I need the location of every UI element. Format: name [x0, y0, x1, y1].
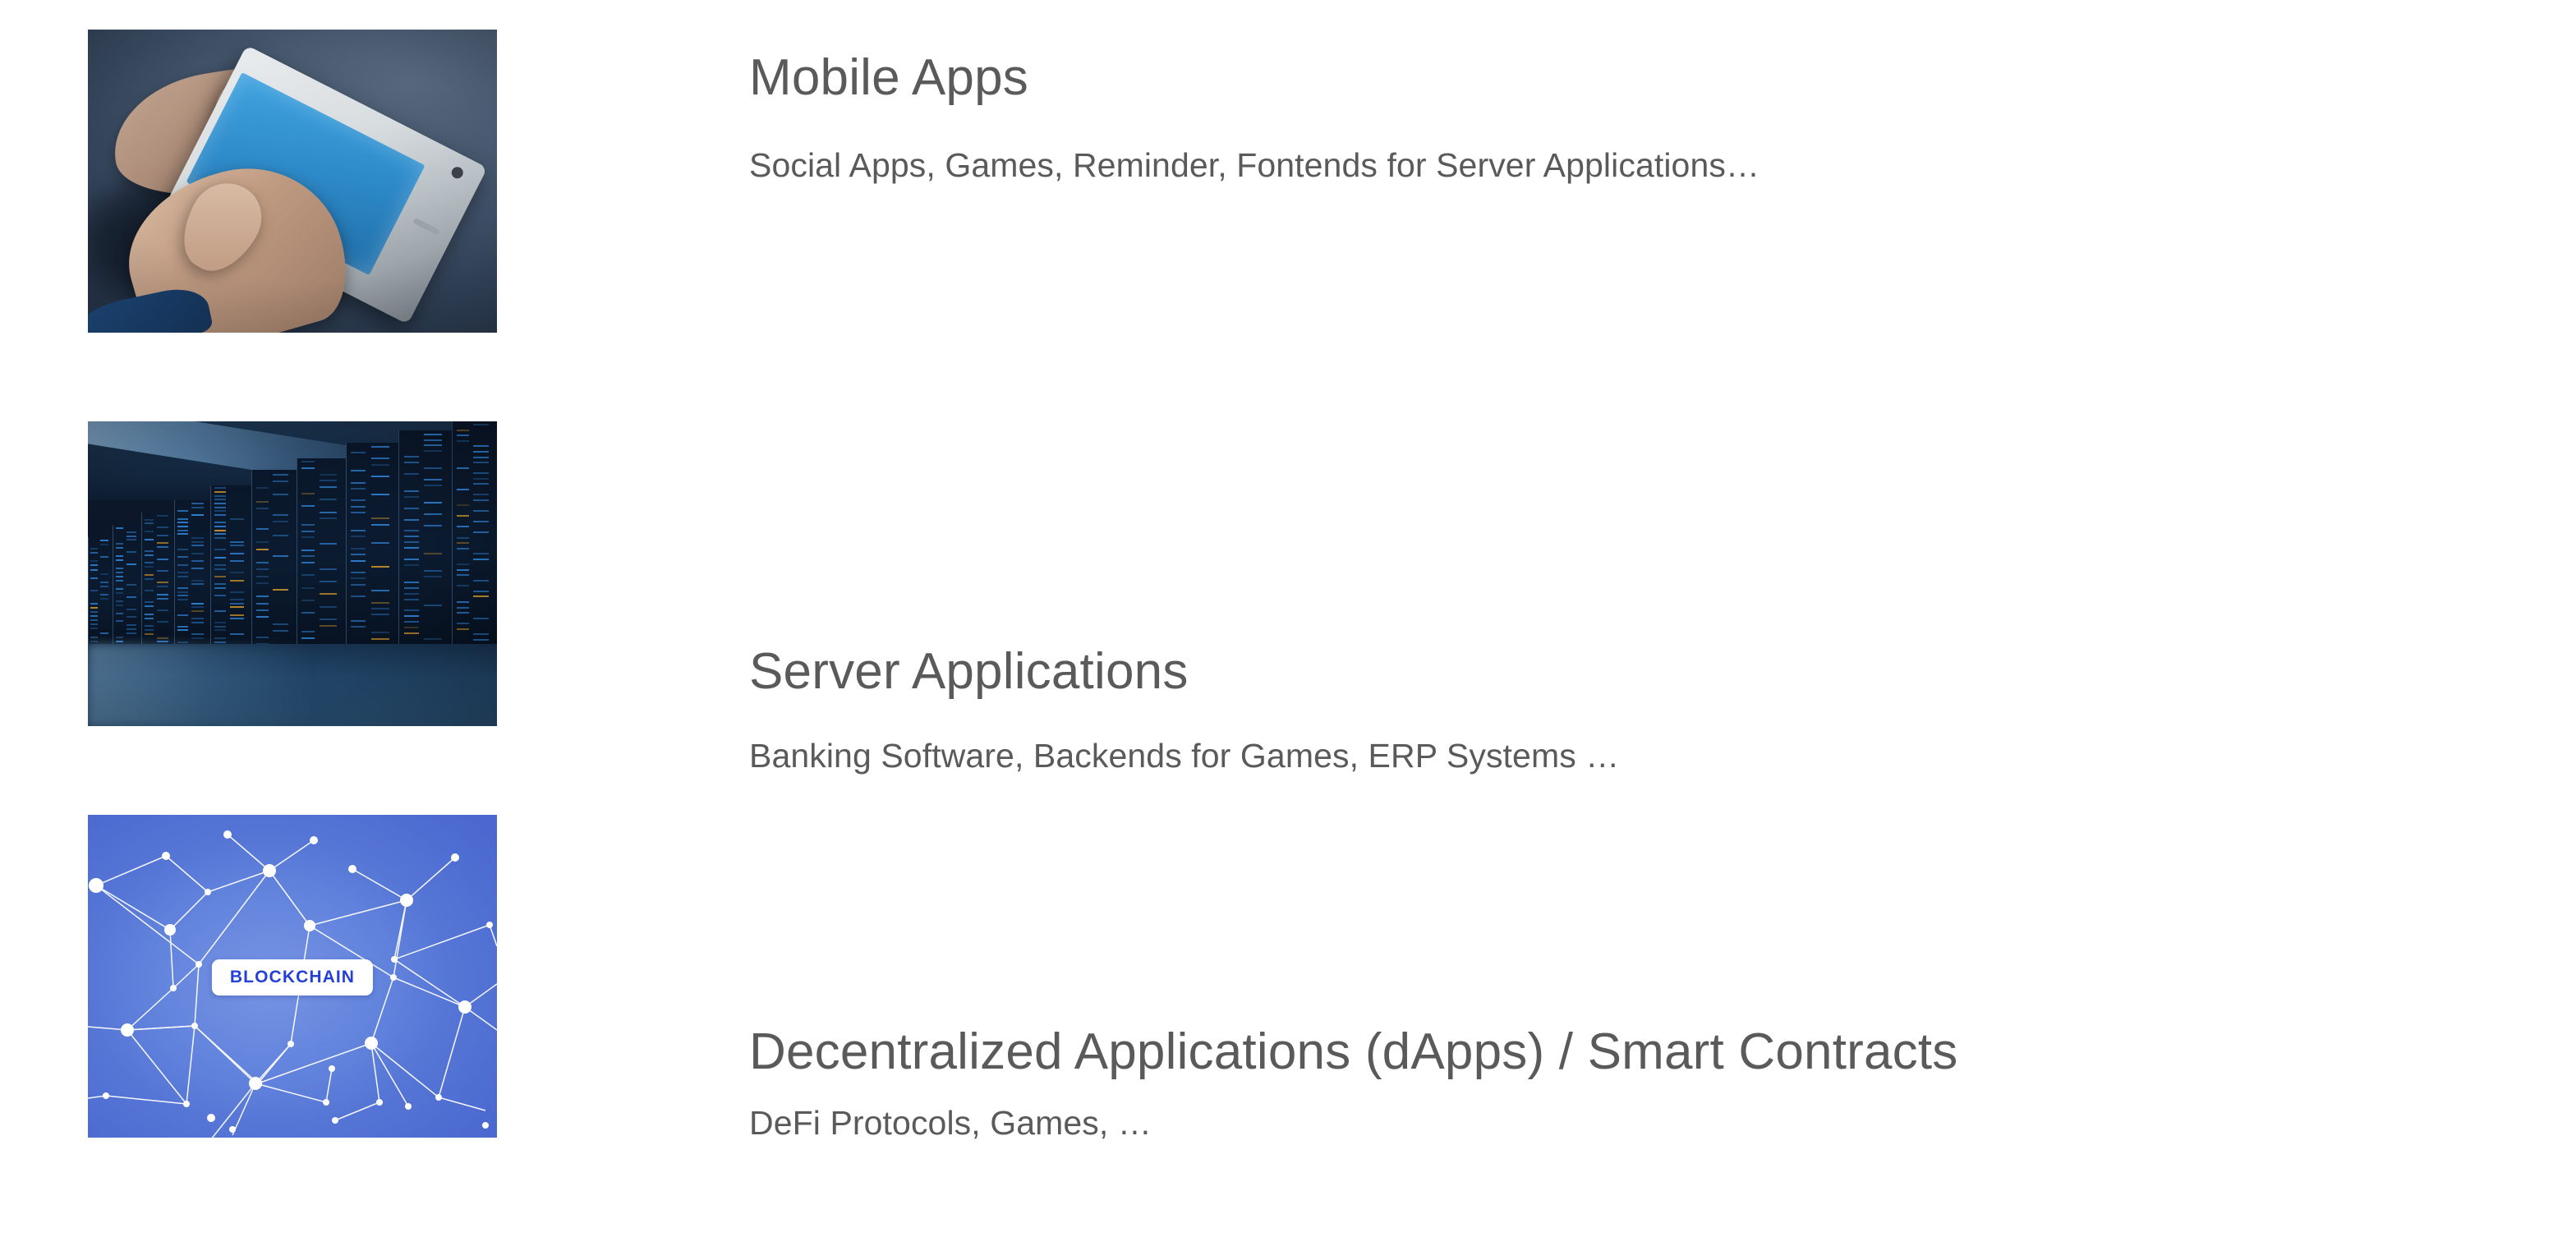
card-mobile-apps: Mobile Apps Social Apps, Games, Reminder… — [0, 0, 2576, 386]
blockchain-label-text: BLOCKCHAIN — [230, 968, 355, 986]
blockchain-label-badge: BLOCKCHAIN — [212, 959, 373, 996]
card-title: Mobile Apps — [749, 49, 2515, 106]
card-description: DeFi Protocols, Games, … — [749, 1101, 2515, 1145]
phone-photo-illustration — [88, 30, 497, 333]
card-thumbnail-decentralized-applications: BLOCKCHAIN — [88, 815, 497, 1138]
card-server-applications: Server Applications Banking Software, Ba… — [0, 392, 2576, 778]
datacenter-photo-illustration — [88, 421, 497, 726]
card-description: Banking Software, Backends for Games, ER… — [749, 734, 2515, 778]
card-thumbnail-server-applications — [88, 421, 497, 726]
card-title: Server Applications — [749, 643, 2515, 700]
blockchain-network-illustration: BLOCKCHAIN — [88, 815, 497, 1138]
card-decentralized-applications: BLOCKCHAIN Decentralized Applications (d… — [0, 785, 2576, 1171]
page-root: Mobile Apps Social Apps, Games, Reminder… — [0, 0, 2576, 1237]
card-description: Social Apps, Games, Reminder, Fontends f… — [749, 144, 2515, 187]
photo-vignette — [88, 421, 497, 726]
card-text-server-applications: Server Applications Banking Software, Ba… — [749, 643, 2515, 779]
photo-vignette — [88, 30, 497, 333]
card-thumbnail-mobile-apps — [88, 30, 497, 333]
card-text-decentralized-applications: Decentralized Applications (dApps) / Sma… — [749, 1023, 2515, 1146]
card-text-mobile-apps: Mobile Apps Social Apps, Games, Reminder… — [749, 49, 2515, 188]
card-title: Decentralized Applications (dApps) / Sma… — [749, 1023, 2515, 1080]
